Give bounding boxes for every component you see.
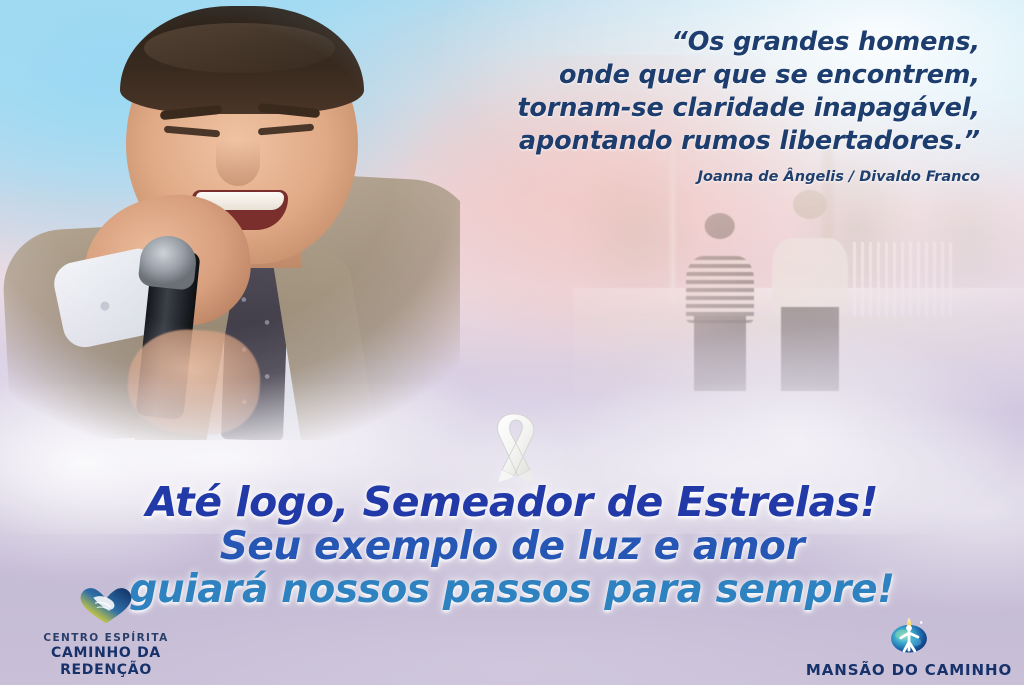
portrait-divaldo-franco [0,0,460,440]
white-ribbon-icon [478,408,550,486]
memorial-poster: “Os grandes homens, onde quer que se enc… [0,0,1024,685]
logo-left-line-1: CENTRO ESPÍRITA [8,632,204,645]
headline-line-1: Até logo, Semeador de Estrelas! [0,482,1024,524]
figure-head [705,213,736,239]
headline-line-2: Seu exemplo de luz e amor [0,527,1024,567]
logo-right-line-1: MANSÃO DO CAMINHO [802,662,1016,679]
quote-block: “Os grandes homens, onde quer que se enc… [420,26,980,185]
hair [120,6,364,114]
globe-figure-flame-icon [802,611,1016,659]
logo-left-line-2: CAMINHO DA REDENÇÃO [8,645,204,679]
quote-line-2: onde quer que se encontrem, [420,59,980,92]
logo-centro-espirita: CENTRO ESPÍRITA CAMINHO DA REDENÇÃO [8,585,204,679]
logo-mansao-do-caminho: MANSÃO DO CAMINHO [802,611,1016,679]
quote-line-1: “Os grandes homens, [420,26,980,59]
figure-head [793,190,827,219]
quote-line-4: apontando rumos libertadores.” [420,125,980,158]
nose [216,140,260,186]
quote-line-3: tornam-se claridade inapagável, [420,92,980,125]
heart-hands-icon [8,585,204,629]
quote-attribution: Joanna de Ângelis / Divaldo Franco [420,169,980,185]
